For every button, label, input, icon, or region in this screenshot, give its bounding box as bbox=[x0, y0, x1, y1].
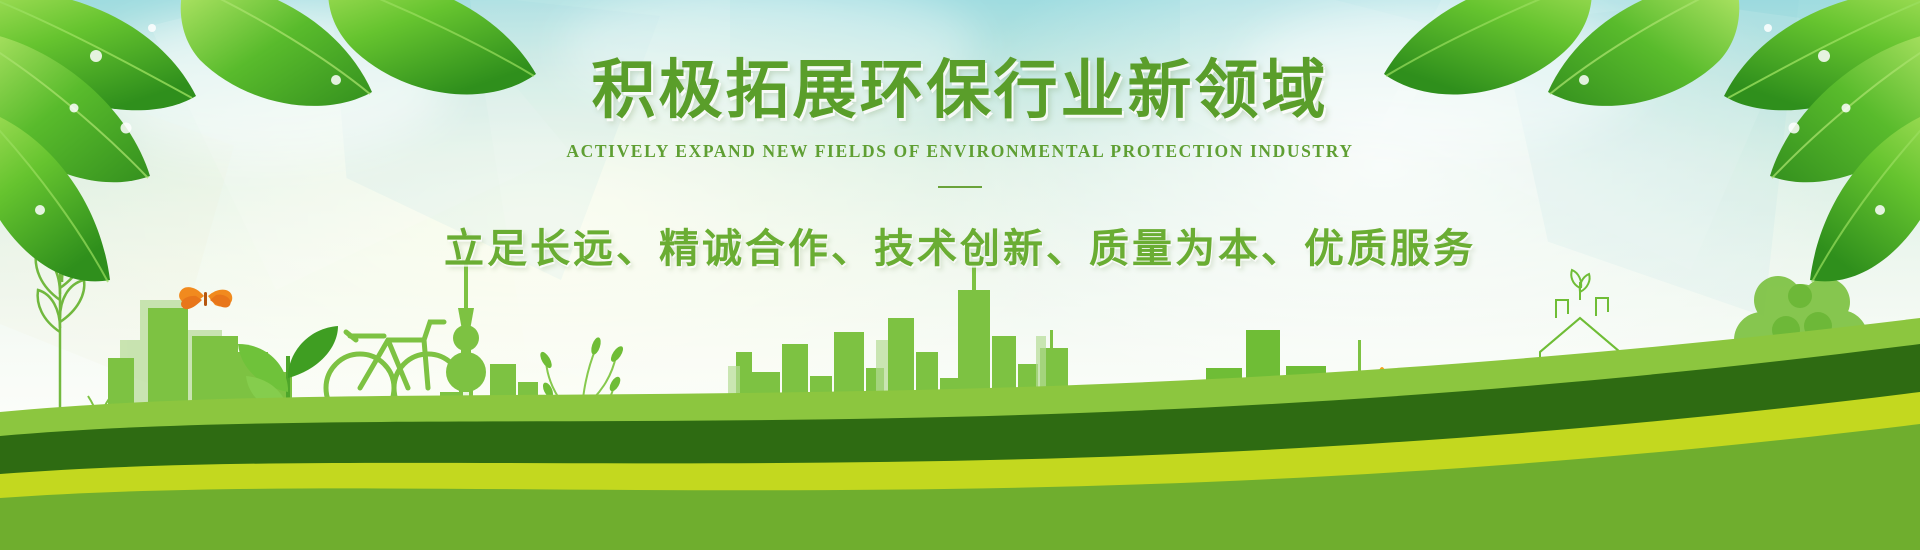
skyline-center bbox=[736, 290, 1088, 454]
ladybug-icon bbox=[817, 394, 835, 413]
skyline-right-bars bbox=[1140, 330, 1326, 454]
flowers-center bbox=[699, 407, 725, 454]
bicycle-icon bbox=[326, 322, 462, 422]
title-divider bbox=[938, 186, 982, 188]
sprout-center bbox=[1076, 398, 1134, 454]
reed-plant bbox=[546, 348, 616, 454]
bicycle-shadow bbox=[328, 416, 464, 436]
reed-leaves bbox=[538, 336, 625, 399]
skyline-antenna bbox=[972, 266, 1053, 350]
butterfly-icon bbox=[179, 287, 232, 309]
victorian-house bbox=[1444, 270, 1792, 454]
banner-text-block: 积极拓展环保行业新领域 ACTIVELY EXPAND NEW FIELDS O… bbox=[0, 0, 1920, 274]
grass-left bbox=[88, 392, 314, 452]
eco-banner: 积极拓展环保行业新领域 ACTIVELY EXPAND NEW FIELDS O… bbox=[0, 0, 1920, 550]
page-subtitle: ACTIVELY EXPAND NEW FIELDS OF ENVIRONMEN… bbox=[0, 141, 1920, 162]
wave-dark-green bbox=[0, 344, 1920, 550]
flower-mid bbox=[670, 396, 702, 454]
wave-yellow-green bbox=[0, 392, 1920, 550]
sprout-left bbox=[238, 326, 338, 452]
space-needle-tower bbox=[1326, 340, 1394, 454]
oriental-pearl-tower bbox=[446, 262, 486, 454]
skyline-left-buildings bbox=[108, 308, 292, 453]
sunflower-right bbox=[1359, 367, 1405, 454]
grass-right bbox=[1336, 404, 1726, 454]
page-title: 积极拓展环保行业新领域 bbox=[0, 56, 1920, 125]
tree-right bbox=[1734, 276, 1868, 454]
wave-mid-green bbox=[0, 424, 1920, 550]
house-base bbox=[1436, 446, 1806, 458]
hummingbird-icon bbox=[1428, 380, 1480, 458]
skyline-left-pale bbox=[120, 300, 222, 450]
skyline-center-pale bbox=[728, 336, 1046, 454]
company-tagline: 立足长远、精诚合作、技术创新、质量为本、优质服务 bbox=[0, 216, 1920, 274]
wave-light-green bbox=[0, 318, 1920, 550]
skyline-mid-buildings bbox=[440, 364, 556, 454]
